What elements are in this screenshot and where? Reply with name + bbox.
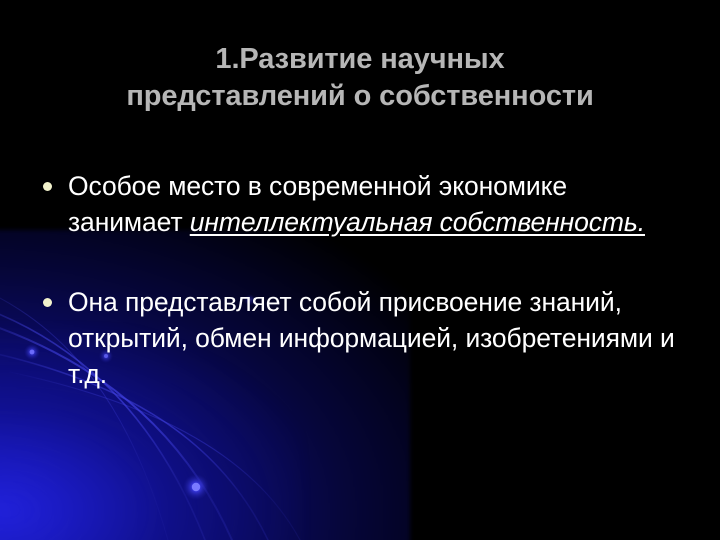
bullet-dot-icon: [43, 182, 52, 191]
presentation-slide: 1.Развитие научных представлений о собст…: [0, 0, 720, 540]
list-item: Она представляет собой присвоение знаний…: [36, 284, 684, 392]
bullet-emphasis-text: интеллектуальная собственность.: [190, 207, 645, 237]
bullet-dot-icon: [43, 298, 52, 307]
slide-body: Особое место в современной экономике зан…: [36, 168, 684, 392]
list-item: Особое место в современной экономике зан…: [36, 168, 684, 240]
slide-title: 1.Развитие научных представлений о собст…: [50, 41, 670, 115]
bullet-lead-text: Она представляет собой присвоение знаний…: [68, 287, 675, 389]
